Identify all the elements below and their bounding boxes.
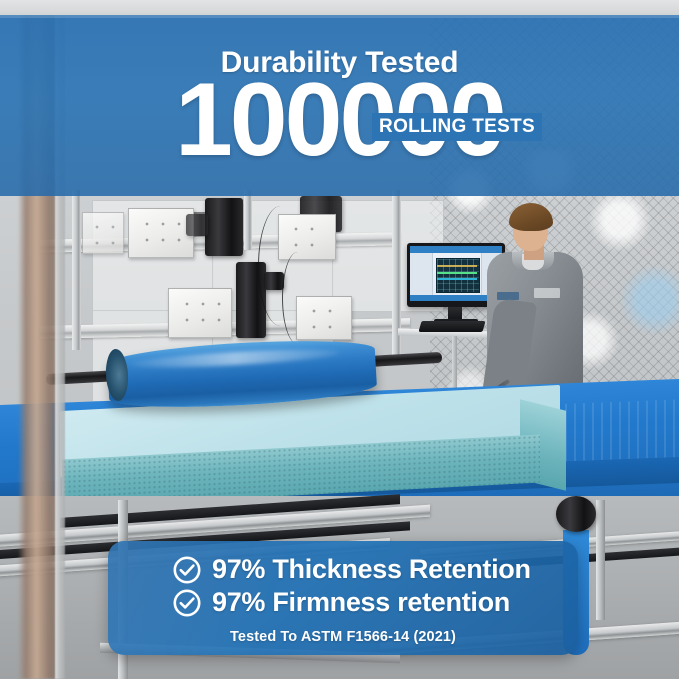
test-plate [168, 288, 232, 338]
rolling-tests-band: ROLLING TESTS [372, 113, 542, 141]
claim-item: 97% Firmness retention [108, 587, 578, 618]
claim-label: 97% Firmness retention [212, 587, 510, 618]
check-circle-icon [172, 555, 202, 585]
app-titlebar [410, 246, 502, 253]
machine-post [596, 500, 605, 620]
top-light-strip [0, 0, 679, 15]
check-circle-icon [172, 588, 202, 618]
test-plate [128, 208, 194, 258]
claims-card: 97% Thickness Retention 97% Firmness ret… [108, 541, 578, 655]
claim-label: 97% Thickness Retention [212, 554, 531, 585]
rig-post [72, 190, 81, 350]
keyboard [418, 321, 485, 332]
rolling-tests-label: ROLLING TESTS [379, 116, 535, 138]
roller-end-dark [556, 496, 596, 532]
claim-item: 97% Thickness Retention [108, 554, 578, 585]
actuator-cylinder [205, 198, 243, 256]
test-standard-note: Tested To ASTM F1566-14 (2021) [108, 629, 578, 645]
cable [282, 252, 313, 344]
big-number-wrap: 100000 [0, 68, 679, 172]
test-plate [82, 212, 124, 254]
rig-post [244, 190, 252, 250]
product-infographic: Durability Tested 100000 ROLLING TESTS 9… [0, 0, 679, 679]
actuator-mount [186, 214, 208, 236]
app-sidebar [410, 253, 433, 301]
graph-trace [437, 272, 477, 274]
worker-logo-patch [534, 288, 560, 298]
test-graph [436, 258, 480, 293]
